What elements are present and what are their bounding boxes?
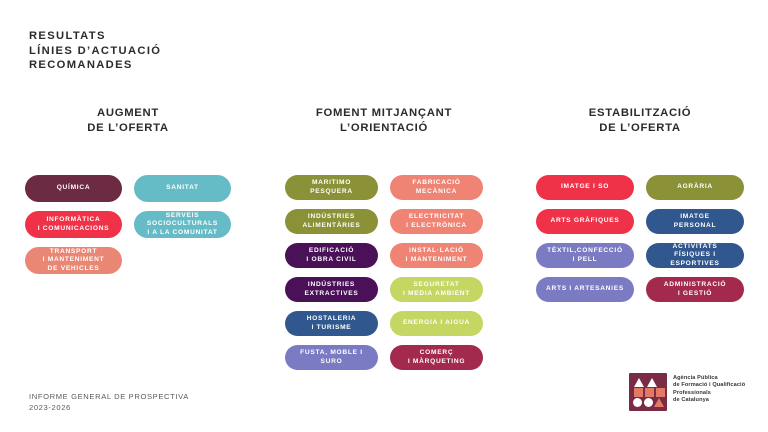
pill-item[interactable]: ADMINISTRACIÓI GESTIÓ bbox=[646, 277, 744, 302]
pill-item[interactable]: FABRICACIÓMECÀNICA bbox=[390, 175, 483, 200]
pill-item[interactable]: SEGURETATI MEDIA AMBIENT bbox=[390, 277, 483, 302]
footer-report-title: INFORME GENERAL DE PROSPECTIVA bbox=[29, 392, 189, 403]
pill-item[interactable]: INDÚSTRIESALIMENTÀRIES bbox=[285, 209, 378, 234]
column-heading-estabilitzacio: ESTABILITZACIÓ DE L’OFERTA bbox=[512, 106, 768, 135]
page-title-line-3: RECOMANADES bbox=[29, 58, 161, 73]
pill-column-right-augment: SANITATSERVEISSOCIOCULTURALSI A LA COMUN… bbox=[134, 175, 231, 274]
pill-item[interactable]: ELECTRICITATI ELECTRÒNICA bbox=[390, 209, 483, 234]
agency-logo-line-1: Agència Pública bbox=[673, 375, 745, 382]
pill-item[interactable]: AGRÀRIA bbox=[646, 175, 744, 200]
column-heading-augment-line-1: AUGMENT bbox=[0, 106, 256, 121]
pill-item[interactable]: COMERÇI MÀRQUETING bbox=[390, 345, 483, 370]
pill-item[interactable]: TÈXTIL,CONFECCIÓI PELL bbox=[536, 243, 634, 268]
pill-item[interactable]: ARTS GRÀFIQUES bbox=[536, 209, 634, 234]
pill-grid-estabilitzacio: IMATGE I SOARTS GRÀFIQUESTÈXTIL,CONFECCI… bbox=[512, 175, 768, 302]
pill-item[interactable]: SANITAT bbox=[134, 175, 231, 202]
column-heading-foment: FOMENT MITJANÇANT L’ORIENTACIÓ bbox=[256, 106, 512, 135]
pill-item[interactable]: ARTS I ARTESANIES bbox=[536, 277, 634, 302]
pill-item[interactable]: ENERGIA I AIGUA bbox=[390, 311, 483, 336]
pill-column-left-augment: QUÍMICAINFORMÀTICAI COMUNICACIONSTRANSPO… bbox=[25, 175, 122, 274]
pill-item[interactable]: FUSTA, MOBLE I SURO bbox=[285, 345, 378, 370]
pill-item[interactable]: IMATGEPERSONAL bbox=[646, 209, 744, 234]
pill-grid-augment: QUÍMICAINFORMÀTICAI COMUNICACIONSTRANSPO… bbox=[0, 175, 256, 274]
pill-item[interactable]: INFORMÀTICAI COMUNICACIONS bbox=[25, 211, 122, 238]
page-title-line-2: LÍNIES D’ACTUACIÓ bbox=[29, 44, 161, 59]
pill-item[interactable]: IMATGE I SO bbox=[536, 175, 634, 200]
fp-agency-logo-icon bbox=[629, 373, 667, 411]
agency-logo-line-3: Professionals bbox=[673, 390, 745, 397]
column-heading-foment-line-1: FOMENT MITJANÇANT bbox=[256, 106, 512, 121]
column-heading-augment-line-2: DE L’OFERTA bbox=[0, 121, 256, 136]
pill-grid-foment: MARITIMOPESQUERAINDÚSTRIESALIMENTÀRIESED… bbox=[256, 175, 512, 370]
column-heading-estabilitzacio-line-2: DE L’OFERTA bbox=[512, 121, 768, 136]
pill-column-left-estabilitzacio: IMATGE I SOARTS GRÀFIQUESTÈXTIL,CONFECCI… bbox=[536, 175, 634, 302]
footer-report-years: 2023-2026 bbox=[29, 403, 189, 414]
pill-item[interactable]: INSTAL·LACIÓI MANTENIMENT bbox=[390, 243, 483, 268]
page-title-line-1: RESULTATS bbox=[29, 29, 161, 44]
footer-report-note: INFORME GENERAL DE PROSPECTIVA 2023-2026 bbox=[29, 392, 189, 413]
pill-item[interactable]: INDÚSTRIESEXTRACTIVES bbox=[285, 277, 378, 302]
column-augment-de-loferta: AUGMENT DE L’OFERTA QUÍMICAINFORMÀTICAI … bbox=[0, 106, 256, 370]
pill-item[interactable]: SERVEISSOCIOCULTURALSI A LA COMUNITAT bbox=[134, 211, 231, 238]
pill-item[interactable]: TRANSPORTI MANTENIMENTDE VEHICLES bbox=[25, 247, 122, 274]
column-heading-estabilitzacio-line-1: ESTABILITZACIÓ bbox=[512, 106, 768, 121]
pill-column-left-foment: MARITIMOPESQUERAINDÚSTRIESALIMENTÀRIESED… bbox=[285, 175, 378, 370]
column-foment-mitjancant-lorientacio: FOMENT MITJANÇANT L’ORIENTACIÓ MARITIMOP… bbox=[256, 106, 512, 370]
column-heading-foment-line-2: L’ORIENTACIÓ bbox=[256, 121, 512, 136]
pill-column-right-foment: FABRICACIÓMECÀNICAELECTRICITATI ELECTRÒN… bbox=[390, 175, 483, 370]
agency-logo-line-4: de Catalunya bbox=[673, 397, 745, 404]
pill-item[interactable]: MARITIMOPESQUERA bbox=[285, 175, 378, 200]
agency-logo: Agència Pública de Formació i Qualificac… bbox=[629, 373, 745, 411]
column-estabilitzacio-de-loferta: ESTABILITZACIÓ DE L’OFERTA IMATGE I SOAR… bbox=[512, 106, 768, 370]
pill-item[interactable]: EDIFICACIÓI OBRA CIVIL bbox=[285, 243, 378, 268]
column-heading-augment: AUGMENT DE L’OFERTA bbox=[0, 106, 256, 135]
pill-item[interactable]: ACTIVITATSFÍSIQUES I ESPORTIVES bbox=[646, 243, 744, 268]
columns-container: AUGMENT DE L’OFERTA QUÍMICAINFORMÀTICAI … bbox=[0, 106, 768, 370]
agency-logo-line-2: de Formació i Qualificació bbox=[673, 382, 745, 389]
pill-column-right-estabilitzacio: AGRÀRIAIMATGEPERSONALACTIVITATSFÍSIQUES … bbox=[646, 175, 744, 302]
pill-item[interactable]: QUÍMICA bbox=[25, 175, 122, 202]
page-title: RESULTATS LÍNIES D’ACTUACIÓ RECOMANADES bbox=[29, 29, 161, 73]
pill-item[interactable]: HOSTALERIAI TURISME bbox=[285, 311, 378, 336]
agency-logo-text: Agència Pública de Formació i Qualificac… bbox=[673, 373, 745, 405]
